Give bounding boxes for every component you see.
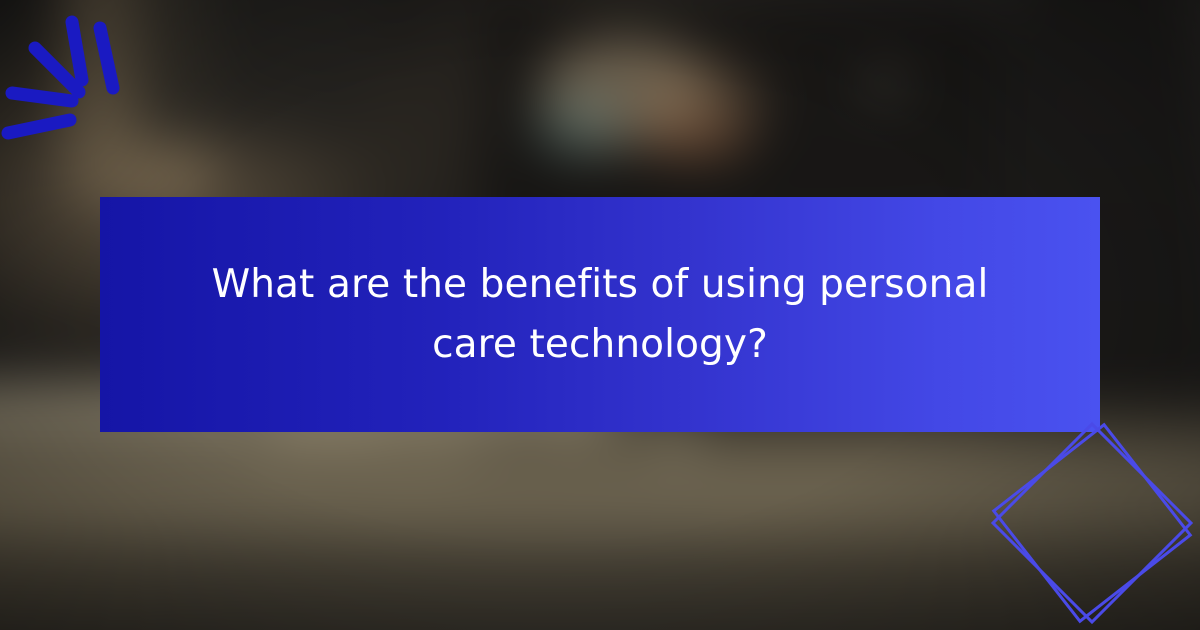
rotated-square-1 [993,424,1191,622]
starburst-ray-5 [8,120,70,133]
headline-banner: What are the benefits of using personal … [100,197,1100,432]
starburst-ray-2 [72,22,82,80]
rotated-square-2 [994,425,1191,622]
headline-text: What are the benefits of using personal … [170,255,1030,374]
social-card-canvas: What are the benefits of using personal … [0,0,1200,630]
starburst-ray-4 [12,93,72,101]
rotated-squares-icon [980,415,1200,630]
starburst-icon [0,0,180,180]
starburst-ray-1 [100,28,113,88]
